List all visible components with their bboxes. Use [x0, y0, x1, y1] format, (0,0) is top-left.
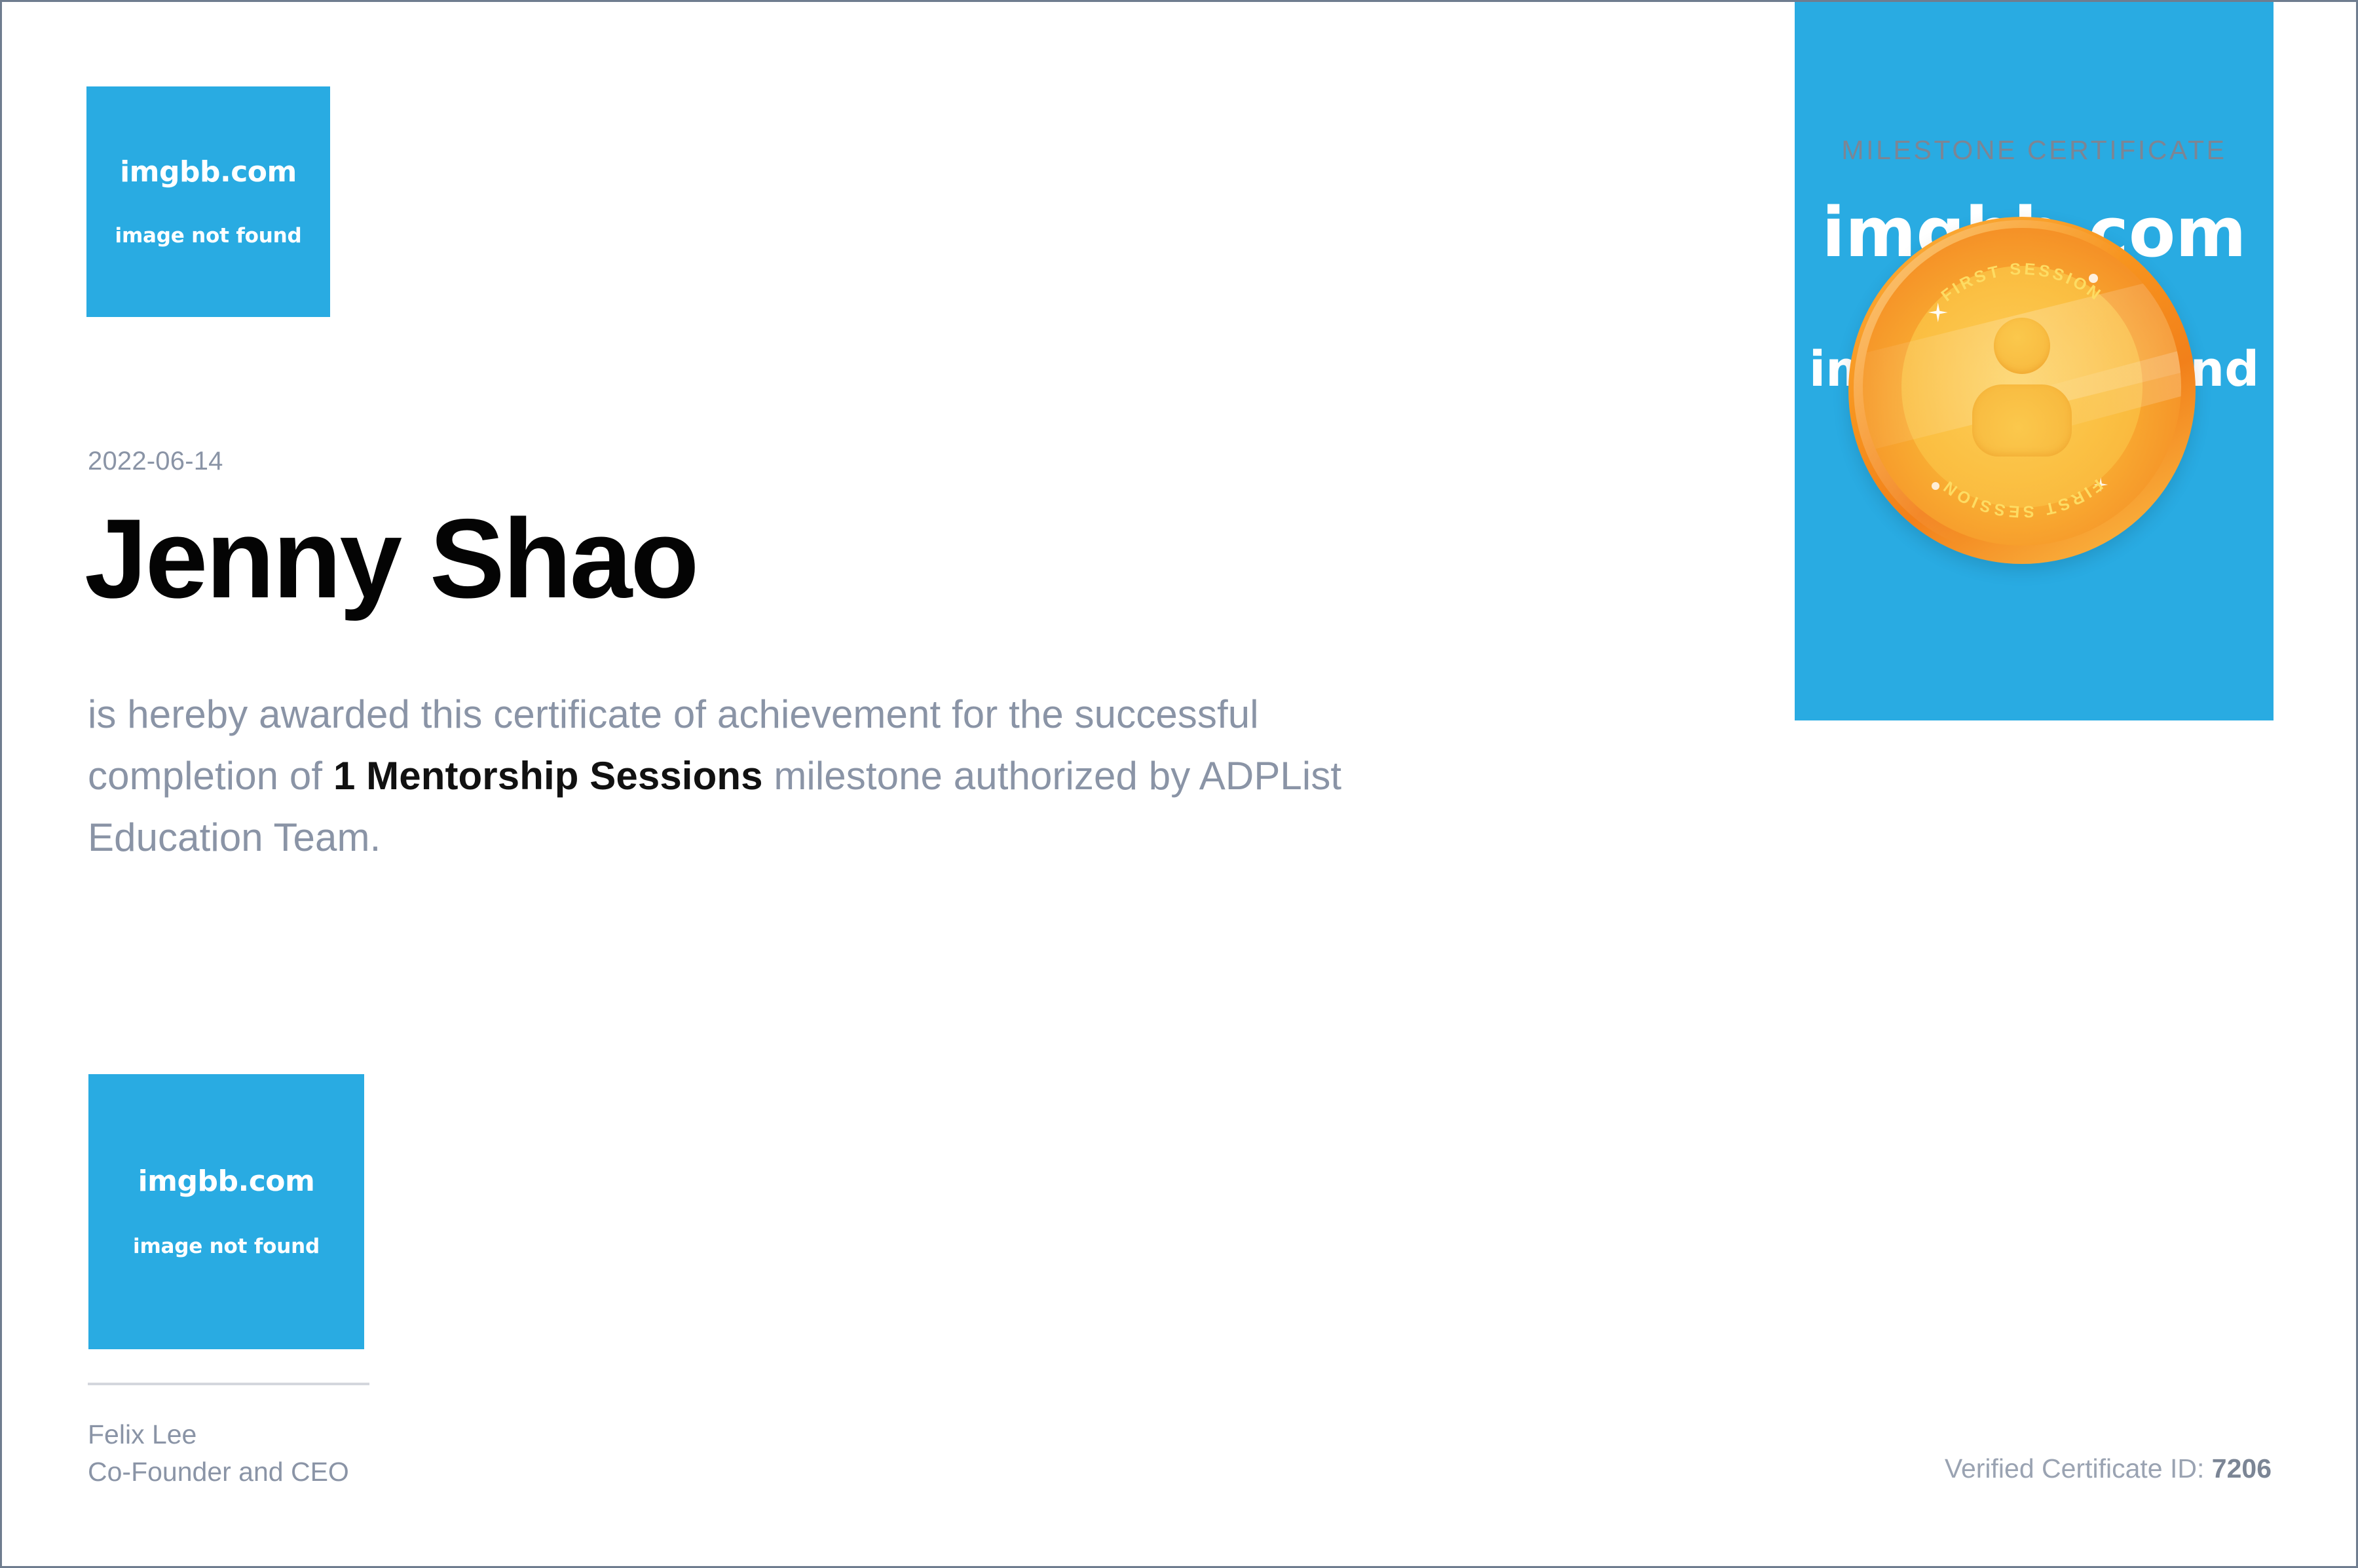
signature-divider	[88, 1383, 369, 1385]
medal-text-bottom: FIRST SESSION	[1938, 476, 2106, 521]
issue-date: 2022-06-14	[88, 447, 223, 476]
signatory-title: Co-Founder and CEO	[88, 1455, 349, 1489]
recipient-name: Jenny Shao	[84, 500, 697, 618]
logo-placeholder-host: imgbb.com	[120, 158, 297, 187]
signature-placeholder-message: image not found	[133, 1237, 320, 1257]
verified-certificate-id: Verified Certificate ID: 7206	[1945, 1453, 2272, 1484]
verified-certificate-id-value: 7206	[2212, 1453, 2272, 1484]
panel-kicker-label: MILESTONE CERTIFICATE	[1795, 135, 2274, 166]
award-milestone-highlight: 1 Mentorship Sessions	[333, 754, 763, 798]
milestone-badge-panel: MILESTONE CERTIFICATE imgbb.com image no…	[1795, 2, 2274, 720]
award-statement: is hereby awarded this certificate of ac…	[88, 684, 1437, 869]
medal-text-top-path: FIRST SESSION	[1938, 260, 2106, 305]
medal-text-top: FIRST SESSION	[1938, 260, 2106, 305]
medal-text-bottom-path: FIRST SESSION	[1938, 476, 2106, 521]
verified-certificate-id-label: Verified Certificate ID:	[1945, 1453, 2205, 1484]
organization-logo-placeholder: imgbb.com image not found	[86, 86, 330, 317]
signatory-name: Felix Lee	[88, 1418, 196, 1451]
signature-image-placeholder: imgbb.com image not found	[88, 1074, 364, 1349]
first-session-medal: FIRST SESSION FIRST SESSION	[1848, 217, 2196, 564]
medal-ring-text: FIRST SESSION FIRST SESSION	[1848, 217, 2196, 564]
signature-placeholder-host: imgbb.com	[138, 1167, 315, 1196]
certificate-page: imgbb.com image not found 2022-06-14 Jen…	[0, 0, 2358, 1568]
logo-placeholder-message: image not found	[115, 226, 302, 246]
